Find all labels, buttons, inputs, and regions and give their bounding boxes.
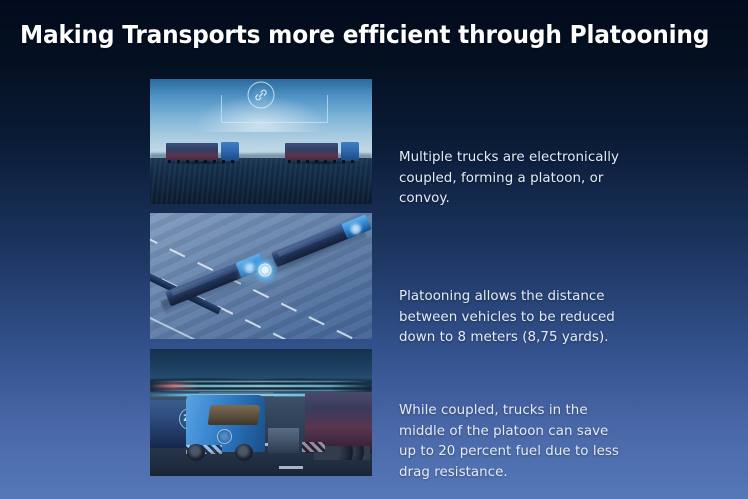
airflow-lines xyxy=(150,390,372,392)
link-icon xyxy=(248,82,275,109)
title-bar: Making Transports more efficient through… xyxy=(0,0,748,62)
caption-text: Platooning allows the distance between v… xyxy=(399,287,661,349)
caption-text: While coupled, trucks in the middle of t… xyxy=(399,401,661,483)
caption-line: Platooning allows the distance xyxy=(399,287,661,308)
truck-follow xyxy=(285,143,358,163)
lane-marking xyxy=(279,466,303,469)
caption-line: convoy. xyxy=(399,189,661,210)
airflow-lines xyxy=(150,381,372,383)
info-row: Platooning allows the distance between v… xyxy=(0,213,748,339)
signal-icon xyxy=(252,257,278,283)
platoon-highway-photo xyxy=(150,79,372,204)
caption-line: down to 8 meters (8,75 yards). xyxy=(399,328,661,349)
caption-text: Multiple trucks are electronically coupl… xyxy=(399,148,661,210)
truck-lead xyxy=(166,143,239,163)
platoon-aerodynamics-photo: ZF xyxy=(150,349,372,476)
caption-line: coupled, forming a platoon, or xyxy=(399,169,661,190)
caption-line: While coupled, trucks in the xyxy=(399,401,661,422)
caption-line: drag resistance. xyxy=(399,463,661,484)
info-row: Multiple trucks are electronically coupl… xyxy=(0,79,748,204)
page-title: Making Transports more efficient through… xyxy=(20,20,709,49)
info-row: ZF While coupled, trucks in the middle o… xyxy=(0,349,748,476)
platoon-aerial-photo xyxy=(150,213,372,339)
caption-line: Multiple trucks are electronically xyxy=(399,148,661,169)
caption-line: middle of the platoon can save xyxy=(399,422,661,443)
caption-line: between vehicles to be reduced xyxy=(399,308,661,329)
platoon-gap xyxy=(268,428,299,453)
coupling-bracket xyxy=(221,95,328,123)
road-surface xyxy=(150,158,372,204)
airflow-lines xyxy=(150,385,372,387)
trailer-ahead xyxy=(305,392,372,453)
caption-line: up to 20 percent fuel due to less xyxy=(399,442,661,463)
truck-zf xyxy=(186,395,266,461)
